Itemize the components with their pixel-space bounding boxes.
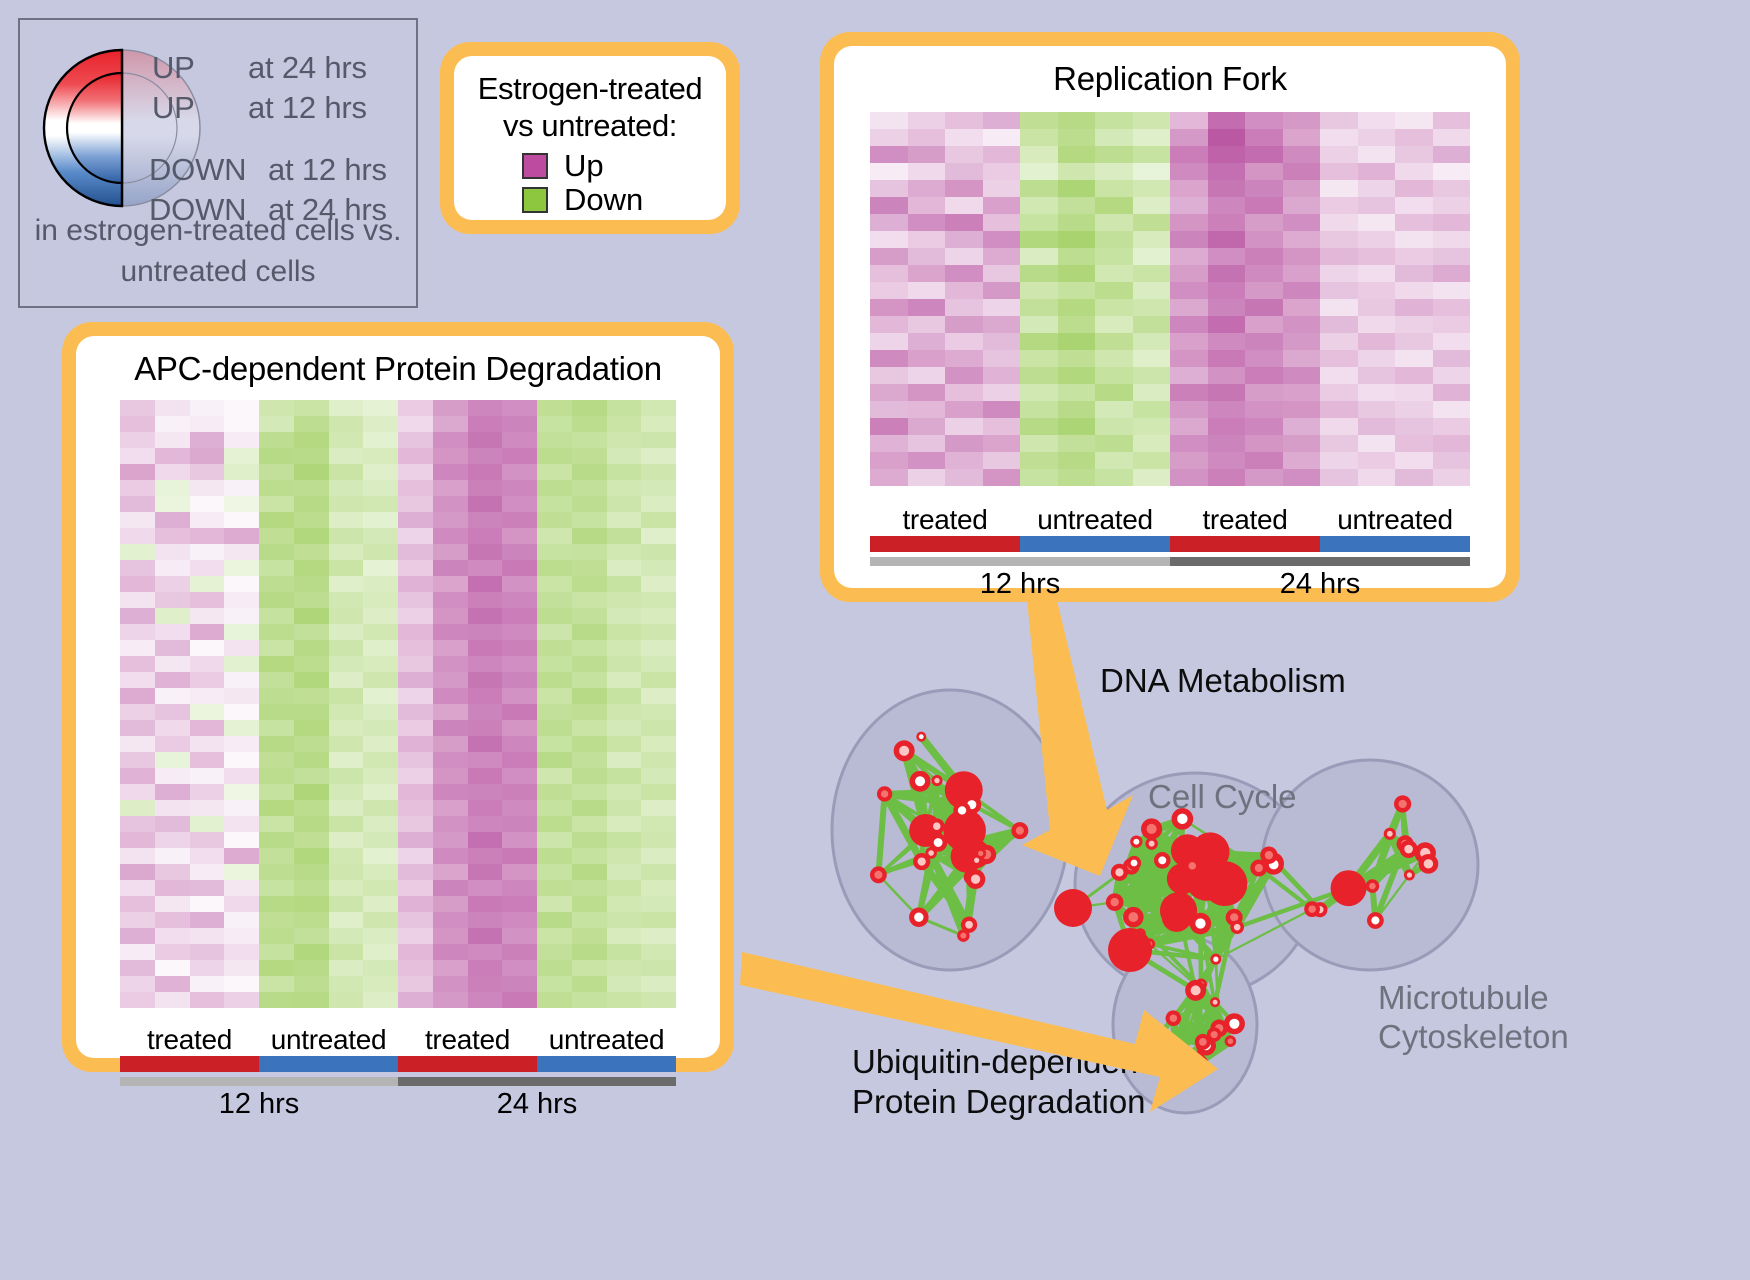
network-node[interactable] <box>931 775 942 786</box>
heatmap-cell <box>1395 214 1433 231</box>
network-node[interactable] <box>929 818 945 834</box>
heatmap-cell <box>641 560 676 576</box>
heatmap-cell <box>945 316 983 333</box>
heatmap-cell <box>433 608 468 624</box>
legend-heading-line2: vs untreated: <box>464 107 716 144</box>
heatmap-cell <box>572 448 607 464</box>
heatmap-cell <box>607 688 642 704</box>
heatmap-cell <box>1133 265 1171 282</box>
heatmap-cell <box>433 704 468 720</box>
heatmap-cell <box>572 880 607 896</box>
heatmap-cell <box>945 401 983 418</box>
heatmap-cell <box>363 896 398 912</box>
heatmap-cell <box>433 464 468 480</box>
heatmap-cell <box>572 640 607 656</box>
heatmap-cell <box>1020 435 1058 452</box>
node-inner <box>1152 1032 1162 1042</box>
network-node[interactable] <box>1106 893 1124 911</box>
network-node[interactable] <box>1207 1027 1222 1042</box>
heatmap-cell <box>329 432 364 448</box>
heatmap-cell <box>224 464 259 480</box>
network-node[interactable] <box>1185 858 1200 873</box>
heatmap-cell <box>259 528 294 544</box>
heatmap-cell <box>1320 214 1358 231</box>
heatmap-cell <box>190 432 225 448</box>
heatmap-cell <box>572 592 607 608</box>
node-inner <box>1308 905 1316 913</box>
network-node[interactable] <box>1147 1027 1168 1048</box>
heatmap-cell <box>1058 333 1096 350</box>
heatmap-cell <box>433 992 468 1008</box>
heatmap-cell <box>537 864 572 880</box>
network-node[interactable] <box>1384 828 1396 840</box>
heatmap-cell <box>537 992 572 1008</box>
network-node[interactable] <box>966 869 986 889</box>
heatmap-cell <box>945 112 983 129</box>
network-node[interactable] <box>975 848 986 859</box>
network-node[interactable] <box>1404 870 1415 881</box>
heatmap-cell <box>572 480 607 496</box>
heatmap-cell <box>537 736 572 752</box>
heatmap-cell <box>1283 384 1321 401</box>
heatmap-cell <box>983 350 1021 367</box>
heatmap-cell <box>945 350 983 367</box>
network-node[interactable] <box>1367 912 1384 929</box>
heatmap-cell <box>1058 163 1096 180</box>
network-node[interactable] <box>1225 1035 1237 1047</box>
heatmap-cell <box>363 576 398 592</box>
heatmap-cell <box>1208 214 1246 231</box>
heatmap-cell <box>120 992 155 1008</box>
heatmap-cell <box>908 265 946 282</box>
heatmap-cell <box>120 608 155 624</box>
heatmap-cell <box>1133 384 1171 401</box>
heatmap-cell <box>259 912 294 928</box>
heatmap-cell <box>1020 469 1058 486</box>
network-node[interactable] <box>1304 901 1320 917</box>
heatmap-cell <box>1095 180 1133 197</box>
heatmap-cell <box>1395 265 1433 282</box>
heatmap-cell <box>1433 265 1471 282</box>
heatmap-cell <box>1170 435 1208 452</box>
network-node[interactable] <box>1127 856 1141 870</box>
heatmap-cell <box>641 528 676 544</box>
heatmap-cell <box>1020 384 1058 401</box>
heatmap-cell <box>398 464 433 480</box>
heatmap-cell <box>259 720 294 736</box>
heatmap-cell <box>294 688 329 704</box>
node-inner <box>1371 916 1379 924</box>
heatmap-cell <box>502 736 537 752</box>
heatmap-cell <box>1358 299 1396 316</box>
heatmap-cell <box>363 640 398 656</box>
heatmap-cell <box>398 928 433 944</box>
heatmap-cell <box>120 448 155 464</box>
heatmap-cell <box>398 592 433 608</box>
heatmap-cell <box>502 688 537 704</box>
network-node[interactable] <box>1141 818 1162 839</box>
heatmap-cell <box>1133 452 1171 469</box>
heatmap-cell <box>1020 401 1058 418</box>
heatmap-cell <box>433 400 468 416</box>
network-node[interactable] <box>1193 1051 1204 1062</box>
heatmap-cell <box>294 752 329 768</box>
heatmap-cell <box>1170 350 1208 367</box>
apc-dependent-title: APC-dependent Protein Degradation <box>76 336 720 388</box>
heatmap-cell <box>870 129 908 146</box>
network-node[interactable] <box>1162 902 1192 932</box>
heatmap-cell <box>398 560 433 576</box>
color-key-panel: UP at 24 hrs UP at 12 hrs DOWN at 12 hrs… <box>18 18 418 308</box>
heatmap-cell <box>1433 367 1471 384</box>
heatmap-cell <box>1020 214 1058 231</box>
network-node[interactable] <box>1400 840 1418 858</box>
heatmap-cell <box>572 576 607 592</box>
heatmap-cell <box>908 418 946 435</box>
heatmap-cell <box>398 944 433 960</box>
heatmap-cell <box>983 231 1021 248</box>
heatmap-cell <box>1208 163 1246 180</box>
heatmap-cell <box>155 544 190 560</box>
network-node[interactable] <box>909 907 928 926</box>
network-node[interactable] <box>1154 852 1171 869</box>
node-inner <box>1213 957 1218 962</box>
heatmap-cell <box>983 282 1021 299</box>
heatmap-cell <box>537 640 572 656</box>
heatmap-cell <box>259 768 294 784</box>
heatmap-cell <box>1395 231 1433 248</box>
heatmap-cell <box>1208 112 1246 129</box>
network-node[interactable] <box>1190 913 1211 934</box>
heatmap-cell <box>641 624 676 640</box>
heatmap-cell <box>155 416 190 432</box>
heatmap-cell <box>224 528 259 544</box>
heatmap-cell <box>224 896 259 912</box>
heatmap-cell <box>983 367 1021 384</box>
heatmap-cell <box>1433 418 1471 435</box>
heatmap-cell <box>983 333 1021 350</box>
heatmap-cell <box>908 469 946 486</box>
heatmap-cell <box>945 231 983 248</box>
heatmap-cell <box>870 418 908 435</box>
replication-fork-column-labels: treated untreated treated untreated <box>870 504 1470 536</box>
heatmap-cell <box>983 299 1021 316</box>
heatmap-cell <box>607 912 642 928</box>
network-node[interactable] <box>1419 854 1439 874</box>
treatment-segment <box>1020 536 1170 552</box>
heatmap-cell <box>363 752 398 768</box>
network-node[interactable] <box>1163 1057 1183 1077</box>
heatmap-cell <box>224 960 259 976</box>
heatmap-cell <box>1320 452 1358 469</box>
network-node[interactable] <box>1366 879 1380 893</box>
heatmap-cell <box>468 624 503 640</box>
heatmap-cell <box>607 400 642 416</box>
network-node[interactable] <box>1130 835 1142 847</box>
heatmap-cell <box>1095 350 1133 367</box>
network-node[interactable] <box>1210 954 1221 965</box>
heatmap-cell <box>1133 299 1171 316</box>
heatmap-cell <box>468 432 503 448</box>
heatmap-cell <box>224 816 259 832</box>
heatmap-cell <box>363 944 398 960</box>
heatmap-cell <box>870 265 908 282</box>
heatmap-cell <box>945 452 983 469</box>
heatmap-cell <box>363 656 398 672</box>
heatmap-cell <box>1358 129 1396 146</box>
heatmap-cell <box>120 944 155 960</box>
heatmap-cell <box>155 576 190 592</box>
heatmap-cell <box>945 384 983 401</box>
heatmap-cell <box>120 560 155 576</box>
heatmap-cell <box>329 544 364 560</box>
heatmap-cell <box>537 416 572 432</box>
replication-fork-title: Replication Fork <box>834 46 1506 98</box>
heatmap-cell <box>120 960 155 976</box>
heatmap-cell <box>190 800 225 816</box>
heatmap-cell <box>190 928 225 944</box>
cluster-label-ubiquitin-dependent: Ubiquitin-dependent Protein Degradation <box>852 1042 1147 1122</box>
heatmap-cell <box>1283 299 1321 316</box>
apc-dependent-time-labels: 12 hrs 24 hrs <box>120 1086 676 1121</box>
heatmap-cell <box>641 816 676 832</box>
legend-items: Up Down <box>464 150 716 216</box>
pathway-network-diagram <box>800 620 1560 1280</box>
heatmap-cell <box>1283 282 1321 299</box>
heatmap-cell <box>398 816 433 832</box>
heatmap-cell <box>329 624 364 640</box>
heatmap-cell <box>1170 146 1208 163</box>
node-inner <box>958 806 966 814</box>
heatmap-cell <box>190 784 225 800</box>
heatmap-cell <box>641 800 676 816</box>
heatmap-cell <box>945 282 983 299</box>
network-node[interactable] <box>1224 1013 1245 1034</box>
heatmap-cell <box>1358 350 1396 367</box>
network-node[interactable] <box>1123 907 1144 928</box>
heatmap-cell <box>572 896 607 912</box>
heatmap-cell <box>1208 435 1246 452</box>
replication-fork-heatmap <box>870 112 1470 486</box>
network-node[interactable] <box>1011 822 1028 839</box>
heatmap-cell <box>537 688 572 704</box>
network-node[interactable] <box>925 847 937 859</box>
heatmap-cell <box>294 400 329 416</box>
heatmap-cell <box>641 832 676 848</box>
heatmap-cell <box>294 544 329 560</box>
heatmap-cell <box>1208 248 1246 265</box>
heatmap-cell <box>537 768 572 784</box>
network-node[interactable] <box>1166 1010 1182 1026</box>
heatmap-cell <box>329 928 364 944</box>
heatmap-cell <box>398 672 433 688</box>
heatmap-cell <box>398 992 433 1008</box>
heatmap-cell <box>641 864 676 880</box>
heatmap-cell <box>572 512 607 528</box>
heatmap-cell <box>259 976 294 992</box>
heatmap-cell <box>908 435 946 452</box>
heatmap-cell <box>1058 248 1096 265</box>
network-node[interactable] <box>1185 980 1206 1001</box>
network-node[interactable] <box>953 802 970 819</box>
heatmap-cell <box>537 592 572 608</box>
network-node[interactable] <box>1331 870 1367 906</box>
network-node[interactable] <box>1145 837 1157 849</box>
network-node[interactable] <box>1394 795 1411 812</box>
heatmap-cell <box>468 928 503 944</box>
heatmap-cell <box>983 163 1021 180</box>
heatmap-cell <box>1320 163 1358 180</box>
column-label: untreated <box>1020 504 1170 536</box>
time-label: 12 hrs <box>120 1086 398 1121</box>
network-node[interactable] <box>1054 889 1092 927</box>
heatmap-cell <box>363 480 398 496</box>
heatmap-cell <box>983 112 1021 129</box>
heatmap-cell <box>433 800 468 816</box>
heatmap-cell <box>155 752 190 768</box>
heatmap-cell <box>983 180 1021 197</box>
heatmap-cell <box>155 704 190 720</box>
heatmap-cell <box>537 704 572 720</box>
heatmap-cell <box>294 512 329 528</box>
heatmap-cell <box>1433 112 1471 129</box>
heatmap-cell <box>607 944 642 960</box>
heatmap-cell <box>120 400 155 416</box>
heatmap-cell <box>155 640 190 656</box>
heatmap-cell <box>155 592 190 608</box>
heatmap-cell <box>572 608 607 624</box>
heatmap-cell <box>641 416 676 432</box>
heatmap-cell <box>120 640 155 656</box>
network-node[interactable] <box>1108 928 1152 972</box>
heatmap-cell <box>259 592 294 608</box>
heatmap-cell <box>607 848 642 864</box>
heatmap-cell <box>120 816 155 832</box>
heatmap-cell <box>641 464 676 480</box>
network-node[interactable] <box>870 866 887 883</box>
heatmap-cell <box>1358 248 1396 265</box>
heatmap-cell <box>363 528 398 544</box>
heatmap-cell <box>259 544 294 560</box>
heatmap-cell <box>572 864 607 880</box>
heatmap-cell <box>1245 299 1283 316</box>
column-label: untreated <box>1320 504 1470 536</box>
heatmap-cell <box>224 880 259 896</box>
network-node[interactable] <box>1230 920 1244 934</box>
heatmap-cell <box>155 960 190 976</box>
heatmap-cell <box>155 768 190 784</box>
heatmap-cell <box>155 848 190 864</box>
network-node[interactable] <box>1210 997 1220 1007</box>
heatmap-cell <box>1058 282 1096 299</box>
heatmap-cell <box>502 432 537 448</box>
network-node[interactable] <box>877 786 892 801</box>
heatmap-cell <box>1208 384 1246 401</box>
heatmap-cell <box>1170 129 1208 146</box>
heatmap-cell <box>259 704 294 720</box>
heatmap-cell <box>1358 282 1396 299</box>
heatmap-cell <box>398 512 433 528</box>
heatmap-cell <box>870 248 908 265</box>
heatmap-cell <box>1095 231 1133 248</box>
heatmap-cell <box>908 129 946 146</box>
heatmap-cell <box>945 418 983 435</box>
heatmap-cell <box>607 960 642 976</box>
heatmap-cell <box>1320 197 1358 214</box>
heatmap-cell <box>1020 452 1058 469</box>
heatmap-cell <box>190 944 225 960</box>
heatmap-cell <box>641 912 676 928</box>
heatmap-cell <box>1433 316 1471 333</box>
heatmap-cell <box>572 784 607 800</box>
heatmap-cell <box>1245 248 1283 265</box>
heatmap-cell <box>572 624 607 640</box>
heatmap-cell <box>908 316 946 333</box>
cluster-label-dna-metabolism: DNA Metabolism <box>1100 662 1346 700</box>
network-node[interactable] <box>894 740 915 761</box>
heatmap-cell <box>224 480 259 496</box>
heatmap-cell <box>1170 112 1208 129</box>
heatmap-cell <box>190 752 225 768</box>
heatmap-cell <box>433 736 468 752</box>
heatmap-cell <box>259 464 294 480</box>
heatmap-cell <box>224 608 259 624</box>
heatmap-cell <box>1095 469 1133 486</box>
heatmap-cell <box>1058 435 1096 452</box>
heatmap-cell <box>1058 316 1096 333</box>
heatmap-cell <box>1358 384 1396 401</box>
heatmap-cell <box>1208 265 1246 282</box>
heatmap-cell <box>537 816 572 832</box>
heatmap-cell <box>572 800 607 816</box>
heatmap-cell <box>259 496 294 512</box>
heatmap-cell <box>398 752 433 768</box>
heatmap-cell <box>190 864 225 880</box>
network-node[interactable] <box>1111 864 1128 881</box>
heatmap-cell <box>398 496 433 512</box>
network-node[interactable] <box>910 771 931 792</box>
heatmap-cell <box>155 896 190 912</box>
heatmap-cell <box>1058 214 1096 231</box>
heatmap-cell <box>155 512 190 528</box>
heatmap-cell <box>908 180 946 197</box>
network-node[interactable] <box>1260 847 1277 864</box>
heatmap-cell <box>870 282 908 299</box>
heatmap-cell <box>1283 197 1321 214</box>
heatmap-cell <box>908 384 946 401</box>
heatmap-cell <box>1170 231 1208 248</box>
heatmap-cell <box>120 768 155 784</box>
heatmap-cell <box>1433 248 1471 265</box>
heatmap-cell <box>1245 435 1283 452</box>
heatmap-cell <box>1433 231 1471 248</box>
heatmap-cell <box>1245 316 1283 333</box>
heatmap-cell <box>155 400 190 416</box>
heatmap-cell <box>363 912 398 928</box>
heatmap-cell <box>1208 367 1246 384</box>
heatmap-cell <box>1208 180 1246 197</box>
heatmap-cell <box>641 496 676 512</box>
heatmap-cell <box>398 848 433 864</box>
heatmap-cell <box>1170 180 1208 197</box>
heatmap-cell <box>502 704 537 720</box>
heatmap-cell <box>1170 248 1208 265</box>
heatmap-cell <box>870 146 908 163</box>
network-node[interactable] <box>961 917 977 933</box>
heatmap-cell <box>1283 265 1321 282</box>
network-node[interactable] <box>916 732 926 742</box>
heatmap-cell <box>607 992 642 1008</box>
